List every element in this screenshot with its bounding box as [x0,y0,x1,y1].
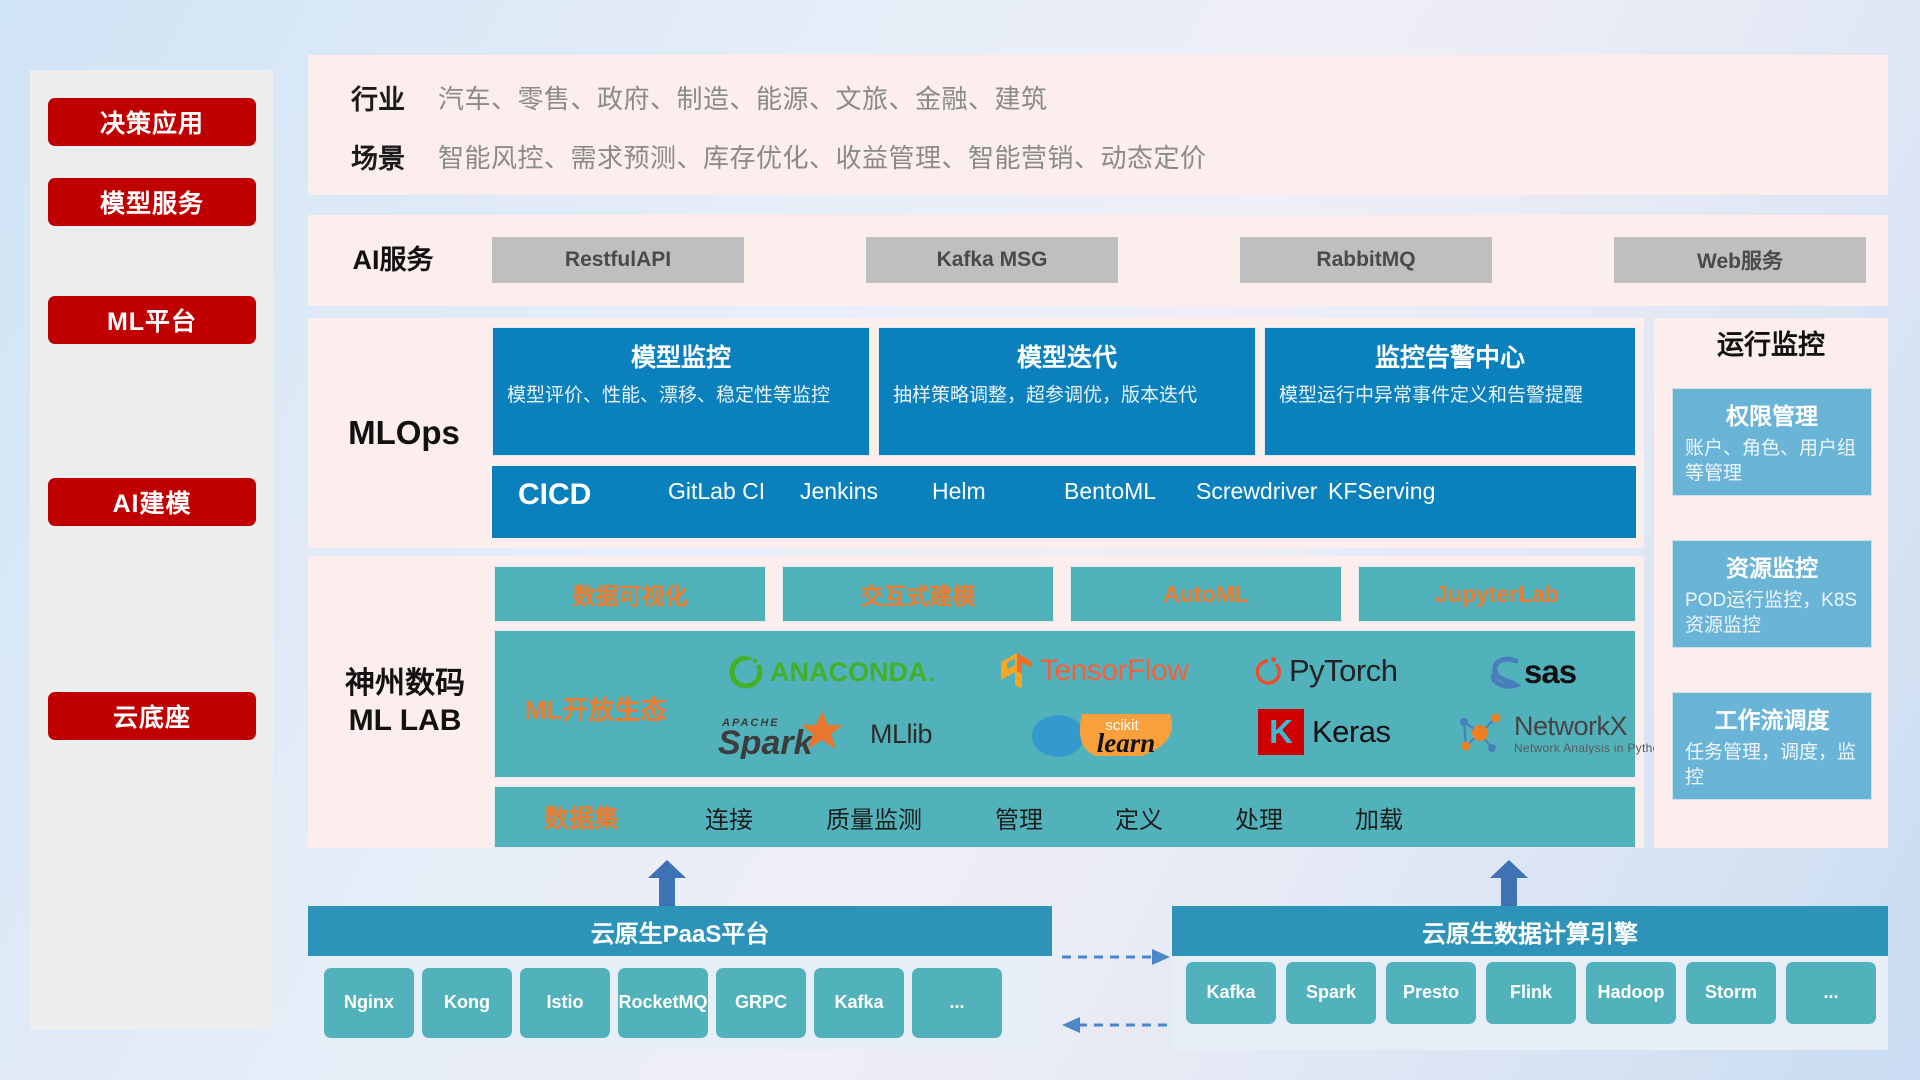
card-title: 模型监控 [507,338,855,374]
pytorch-icon [1252,653,1284,689]
mlops-card-model-iteration[interactable]: 模型迭代 抽样策略调整，超参调优，版本迭代 [878,327,1256,456]
card-desc: 抽样策略调整，超参调优，版本迭代 [893,383,1241,408]
networkx-logo: NetworkX Network Analysis in Python [1456,706,1676,760]
ml-lab-label-line1: 神州数码 [345,665,465,703]
ml-lab-tab-interactive-modeling[interactable]: 交互式建模 [782,566,1054,622]
mllib-wordmark: MLlib [870,719,932,750]
mlops-label: MLOps [318,318,490,548]
rail-chip-ai-modeling[interactable]: AI建模 [48,478,256,526]
keras-logo: K Keras [1258,706,1468,758]
paas-chip-grpc[interactable]: GRPC [716,968,806,1038]
ml-open-ecosystem-label: ML开放生态 [525,690,667,727]
scene-label: 场景 [318,137,438,176]
card-desc: 模型运行中异常事件定义和告警提醒 [1279,383,1621,408]
scikit-learn-logo: scikit learn [1030,706,1210,762]
paas-chip-nginx[interactable]: Nginx [324,968,414,1038]
rail-chip-decision-app[interactable]: 决策应用 [48,98,256,146]
svg-text:Spark: Spark [718,724,815,759]
card-desc: 模型评价、性能、漂移、稳定性等监控 [507,383,855,408]
spark-mllib-logo: APACHE Spark MLlib [718,708,1018,760]
card-title: 权限管理 [1685,397,1859,431]
cicd-item-gitlab-ci[interactable]: GitLab CI [668,478,800,504]
cicd-item-bentoml[interactable]: BentoML [1064,478,1196,504]
cicd-item-jenkins[interactable]: Jenkins [800,478,932,504]
industry-label: 行业 [318,78,438,117]
paas-chip-istio[interactable]: Istio [520,968,610,1038]
engine-chip-kafka[interactable]: Kafka [1186,962,1276,1024]
monitor-card-permission[interactable]: 权限管理 账户、角色、用户组等管理 [1672,388,1872,496]
ml-lab-label: 神州数码 ML LAB [316,556,494,848]
tab-label: JupyterLab [1359,567,1635,621]
left-rail: 决策应用 模型服务 ML平台 AI建模 云底座 [30,70,273,1030]
keras-wordmark: Keras [1312,714,1390,750]
paas-chip-more[interactable]: ... [912,968,1002,1038]
rail-chip-model-service[interactable]: 模型服务 [48,178,256,226]
pytorch-wordmark: PyTorch [1289,653,1397,689]
pytorch-logo: PyTorch [1252,650,1502,692]
card-title: 资源监控 [1685,549,1859,583]
dataset-item-connect[interactable]: 连接 [669,800,789,835]
data-engine-title: 云原生数据计算引擎 [1172,906,1888,956]
dataset-item-define[interactable]: 定义 [1079,800,1199,835]
scene-value: 智能风控、需求预测、库存优化、收益管理、智能营销、动态定价 [438,138,1207,175]
engine-chip-hadoop[interactable]: Hadoop [1586,962,1676,1024]
networkx-tagline: Network Analysis in Python [1514,742,1667,754]
paas-title: 云原生PaaS平台 [308,906,1052,956]
tab-label: 数据可视化 [495,567,765,621]
sas-icon [1490,655,1526,689]
card-desc: 账户、角色、用户组等管理 [1685,437,1859,486]
ai-service-label: AI服务 [318,215,468,306]
card-title: 工作流调度 [1685,701,1859,735]
ai-service-chip-web-service[interactable]: Web服务 [1614,237,1866,283]
cicd-item-kfserving[interactable]: KFServing [1328,478,1460,504]
dataset-label: 数据集 [494,799,669,835]
engine-chip-flink[interactable]: Flink [1486,962,1576,1024]
cicd-item-screwdriver[interactable]: Screwdriver [1196,478,1328,504]
tab-label: AutoML [1071,567,1341,621]
mlops-card-model-monitoring[interactable]: 模型监控 模型评价、性能、漂移、稳定性等监控 [492,327,870,456]
sas-logo: sas [1490,652,1680,692]
rail-chip-ml-platform[interactable]: ML平台 [48,296,256,344]
ml-lab-tab-data-viz[interactable]: 数据可视化 [494,566,766,622]
anaconda-icon [728,654,764,690]
spark-icon: APACHE Spark [718,709,866,759]
networkx-icon [1456,708,1508,758]
industry-row: 行业 汽车、零售、政府、制造、能源、文旅、金融、建筑 [318,76,1048,118]
ai-service-chip-rabbitmq[interactable]: RabbitMQ [1240,237,1492,283]
paas-chip-rocketmq[interactable]: RocketMQ [618,968,708,1038]
tensorflow-wordmark: TensorFlow [1040,654,1188,688]
cicd-label: CICD [518,478,668,512]
mlops-card-alert-center[interactable]: 监控告警中心 模型运行中异常事件定义和告警提醒 [1264,327,1636,456]
ai-service-chip-restfulapi[interactable]: RestfulAPI [492,237,744,283]
dataset-item-load[interactable]: 加载 [1319,800,1439,835]
engine-chip-storm[interactable]: Storm [1686,962,1776,1024]
dataset-item-manage[interactable]: 管理 [959,800,1079,835]
engine-chip-spark[interactable]: Spark [1286,962,1376,1024]
industry-value: 汽车、零售、政府、制造、能源、文旅、金融、建筑 [438,79,1048,116]
card-desc: POD运行监控，K8S资源监控 [1685,589,1859,638]
engine-chip-presto[interactable]: Presto [1386,962,1476,1024]
monitor-card-workflow[interactable]: 工作流调度 任务管理，调度，监控 [1672,692,1872,800]
keras-mark: K [1258,709,1304,755]
anaconda-wordmark: ANACONDA [770,657,928,688]
dataset-item-quality-monitor[interactable]: 质量监测 [789,800,959,835]
paas-chip-kafka[interactable]: Kafka [814,968,904,1038]
up-arrow-data-engine [1490,860,1528,906]
cicd-item-helm[interactable]: Helm [932,478,1064,504]
ai-service-chip-kafka-msg[interactable]: Kafka MSG [866,237,1118,283]
run-monitor-title: 运行监控 [1654,318,1888,374]
architecture-diagram: 决策应用 模型服务 ML平台 AI建模 云底座 行业 汽车、零售、政府、制造、能… [0,0,1920,1080]
cicd-strip: CICD GitLab CI Jenkins Helm BentoML Scre… [492,466,1636,538]
anaconda-logo: ANACONDA . [728,652,978,692]
networkx-wordmark: NetworkX [1514,713,1667,740]
dataset-row: 数据集 连接 质量监测 管理 定义 处理 加载 [494,786,1636,848]
paas-chip-kong[interactable]: Kong [422,968,512,1038]
monitor-card-resource[interactable]: 资源监控 POD运行监控，K8S资源监控 [1672,540,1872,648]
tab-label: 交互式建模 [783,567,1053,621]
rail-chip-cloud-base[interactable]: 云底座 [48,692,256,740]
scene-row: 场景 智能风控、需求预测、库存优化、收益管理、智能营销、动态定价 [318,135,1207,177]
card-title: 模型迭代 [893,338,1241,374]
ml-lab-label-line2: ML LAB [349,702,462,740]
tensorflow-icon [1000,652,1034,690]
sas-wordmark: sas [1524,653,1576,691]
up-arrow-paas [648,860,686,906]
card-title: 监控告警中心 [1279,338,1621,374]
anaconda-dot: . [928,663,936,681]
keras-mark-letter: K [1269,713,1293,751]
right-dashed-arrow [1062,948,1170,966]
card-desc: 任务管理，调度，监控 [1685,741,1859,790]
svg-text:learn: learn [1097,728,1156,758]
engine-chip-more[interactable]: ... [1786,962,1876,1024]
scikit-learn-icon: scikit learn [1030,706,1198,762]
left-dashed-arrow [1062,1016,1170,1034]
dataset-item-process[interactable]: 处理 [1199,800,1319,835]
ml-lab-tab-automl[interactable]: AutoML [1070,566,1342,622]
ml-lab-tab-jupyterlab[interactable]: JupyterLab [1358,566,1636,622]
